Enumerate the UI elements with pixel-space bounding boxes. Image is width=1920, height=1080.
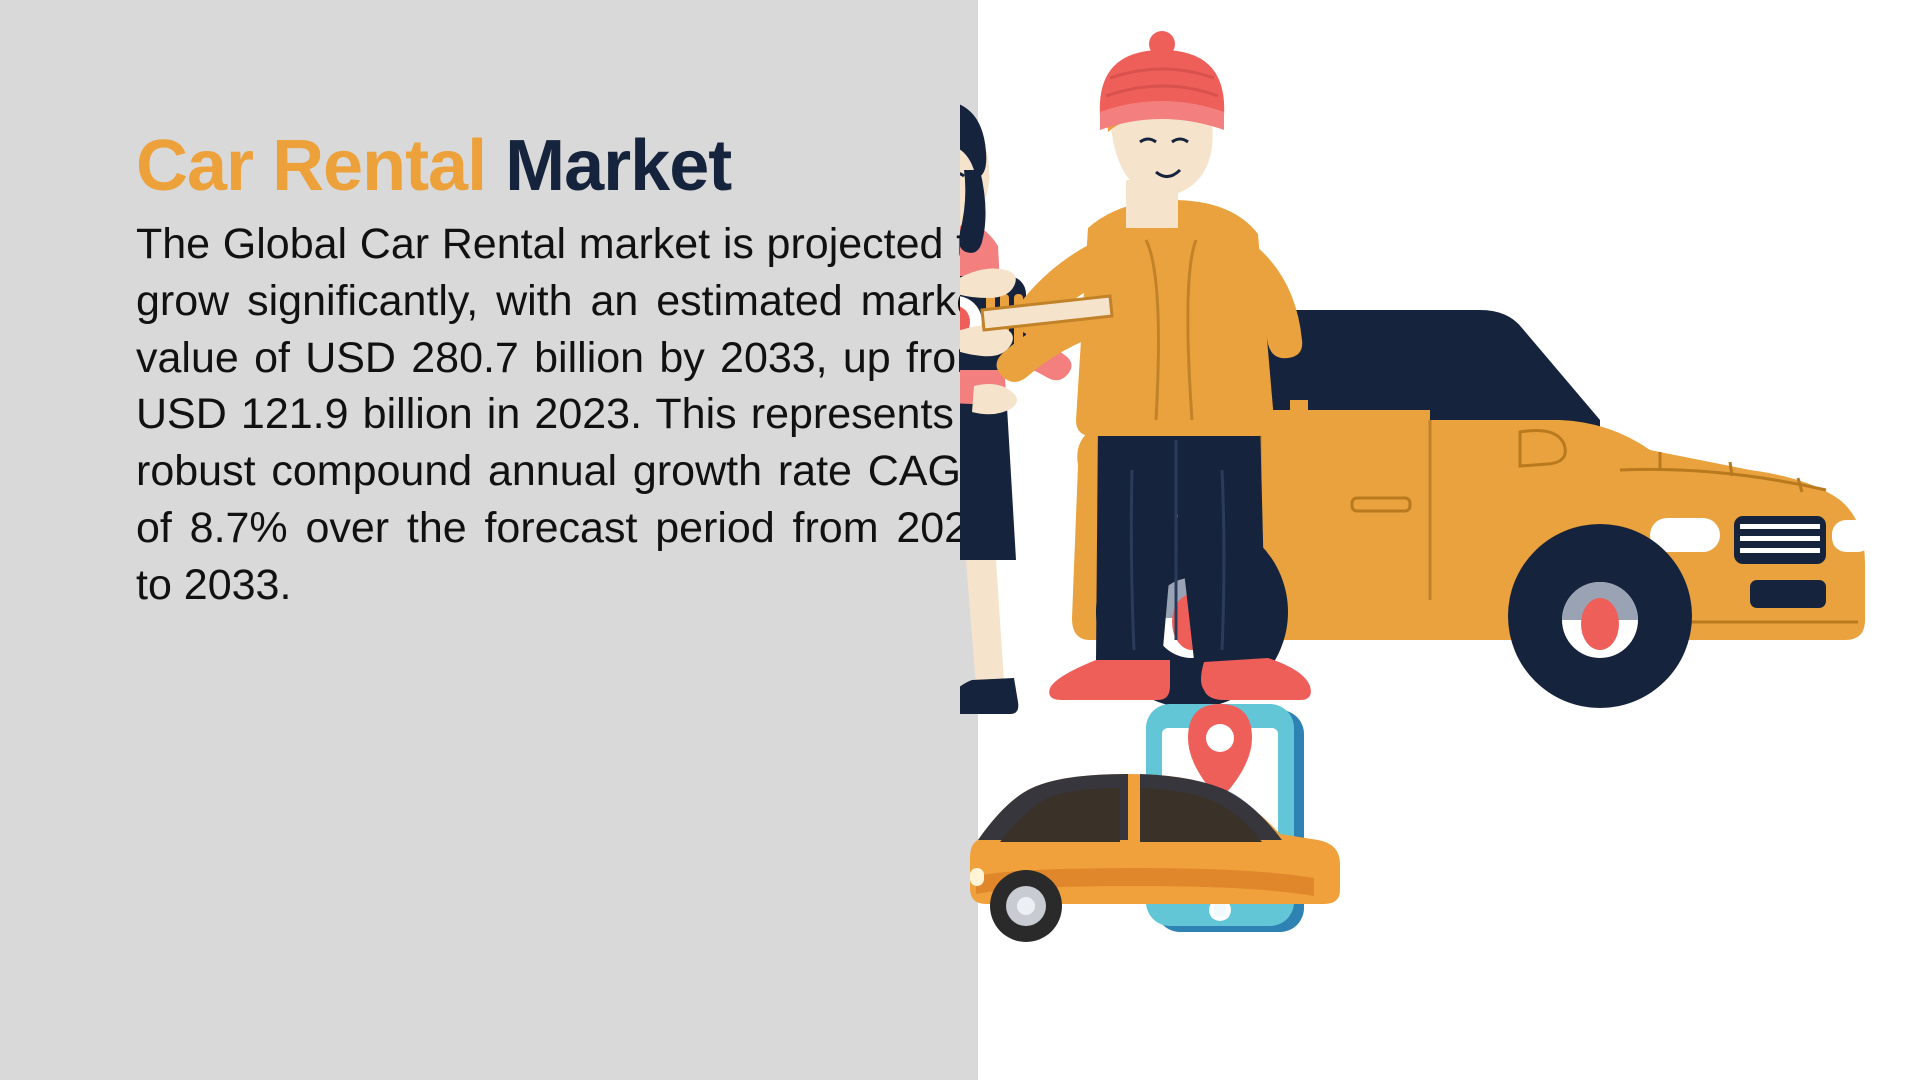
mobile-booking-graphic (970, 704, 1340, 942)
woman-customer-graphic (960, 72, 1072, 714)
illustration-scene: CAR RENTAL (960, 0, 1920, 1080)
scene-svg (960, 0, 1920, 1080)
text-column: Car Rental Market The Global Car Rental … (136, 130, 992, 613)
page-title-accent: Car Rental (136, 126, 486, 206)
body-paragraph: The Global Car Rental market is projecte… (136, 216, 992, 613)
page-title: Car Rental Market (136, 130, 992, 202)
page-title-dark: Market (505, 126, 731, 206)
title-space (486, 126, 505, 206)
poster-canvas: Car Rental Market The Global Car Rental … (0, 0, 1920, 1080)
man-agent-graphic (960, 31, 1311, 700)
